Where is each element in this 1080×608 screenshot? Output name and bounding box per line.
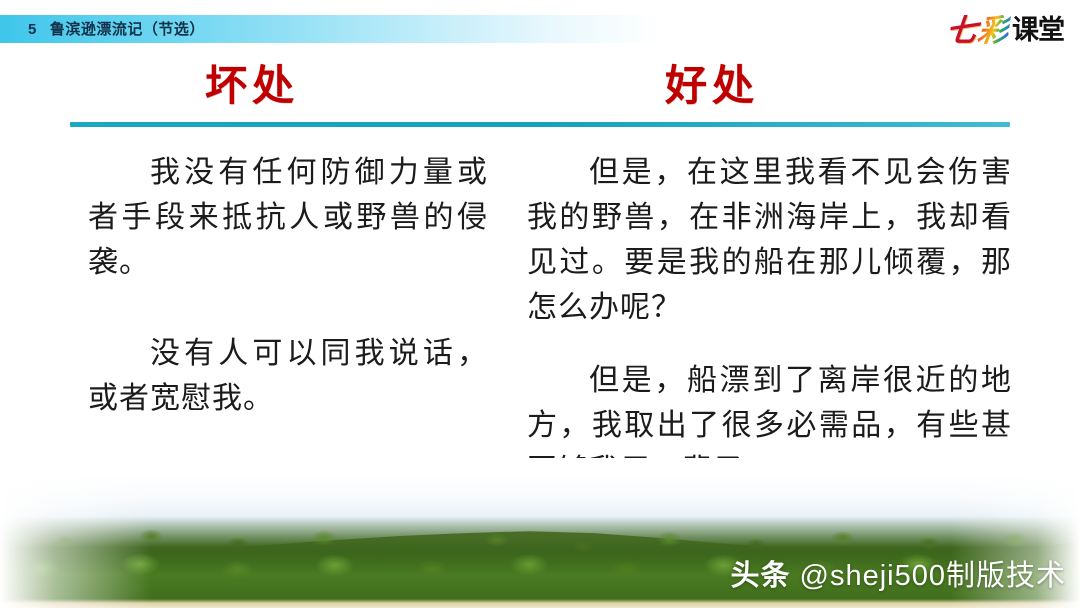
column-heading-bad: 坏处 bbox=[205, 66, 299, 108]
lesson-title: 鲁滨逊漂流记（节选） bbox=[50, 21, 205, 38]
slide-canvas: 5鲁滨逊漂流记（节选） 七 彩 课堂 坏处 好处 我没有任何防御力量或者手段来抵… bbox=[0, 0, 1080, 608]
photo-sand-strip bbox=[0, 599, 1080, 608]
page-title: 5鲁滨逊漂流记（节选） bbox=[28, 17, 205, 42]
paragraph-bad-2: 没有人可以同我说话，或者宽慰我。 bbox=[88, 331, 488, 421]
watermark-platform: 头条 bbox=[730, 560, 790, 592]
watermark: 头条 @sheji500制版技术 bbox=[730, 552, 1066, 594]
paragraph-good-1: 但是，在这里我看不见会伤害我的野兽，在非洲海岸上，我却看见过。要是我的船在那儿倾… bbox=[527, 150, 1012, 330]
column-bad: 我没有任何防御力量或者手段来抵抗人或野兽的侵袭。 没有人可以同我说话，或者宽慰我… bbox=[88, 150, 488, 467]
logo-char-qi: 七 bbox=[944, 15, 978, 46]
logo-word-ketang: 课堂 bbox=[1012, 17, 1064, 44]
brand-logo: 七 彩 课堂 bbox=[938, 11, 1064, 50]
lesson-number: 5 bbox=[28, 21, 37, 38]
column-heading-good: 好处 bbox=[665, 66, 759, 108]
section-divider bbox=[70, 122, 1010, 127]
logo-char-cai: 彩 bbox=[976, 15, 1011, 46]
paragraph-bad-1: 我没有任何防御力量或者手段来抵抗人或野兽的侵袭。 bbox=[88, 150, 488, 285]
watermark-handle: @sheji500制版技术 bbox=[800, 560, 1066, 592]
